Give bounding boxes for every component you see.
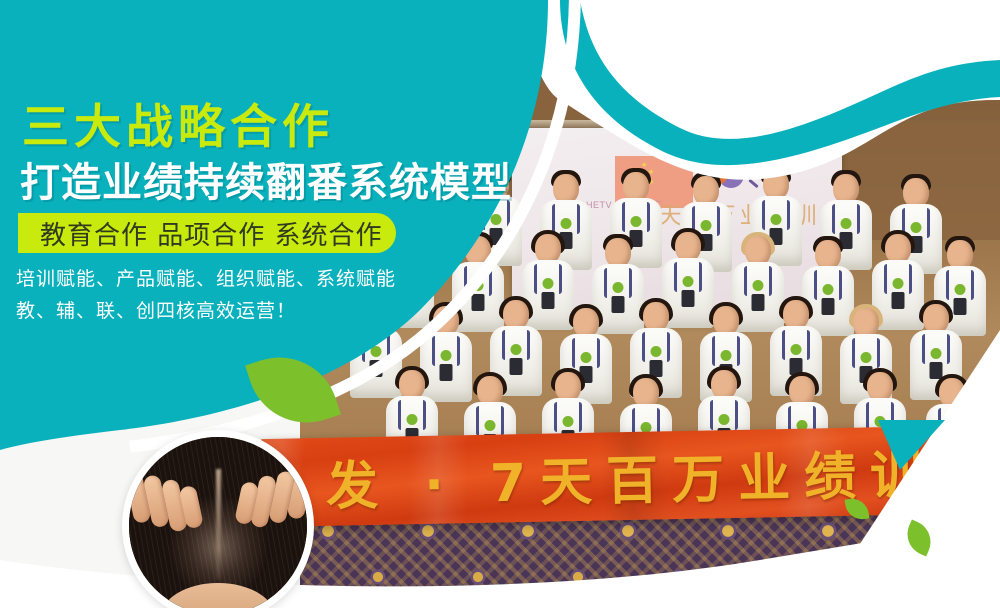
benefits-list: 培训赋能、产品赋能、组织赋能、系统赋能 教、辅、联、创四核高效运营！: [16, 263, 396, 328]
subheadline: 打造业绩持续翻番系统模型: [20, 150, 512, 208]
headline: 三大战略合作: [22, 88, 334, 157]
hair-parting: [216, 469, 221, 579]
scalp-image: [129, 437, 307, 608]
benefits-line-2: 教、辅、联、创四核高效运营！: [16, 295, 396, 327]
promo-banner: ★ ★ ★ ★ ★ BOHETV 美业生活汇 7天百万业绩训练营: [0, 0, 1000, 608]
leaf-icon-small-a: [845, 497, 870, 522]
services-pill: 教育合作 品项合作 系统合作: [18, 213, 396, 253]
benefits-line-1: 培训赋能、产品赋能、组织赋能、系统赋能: [16, 263, 396, 295]
scalp-photo-inset: [122, 430, 314, 608]
services-pill-text: 教育合作 品项合作 系统合作: [40, 215, 383, 252]
